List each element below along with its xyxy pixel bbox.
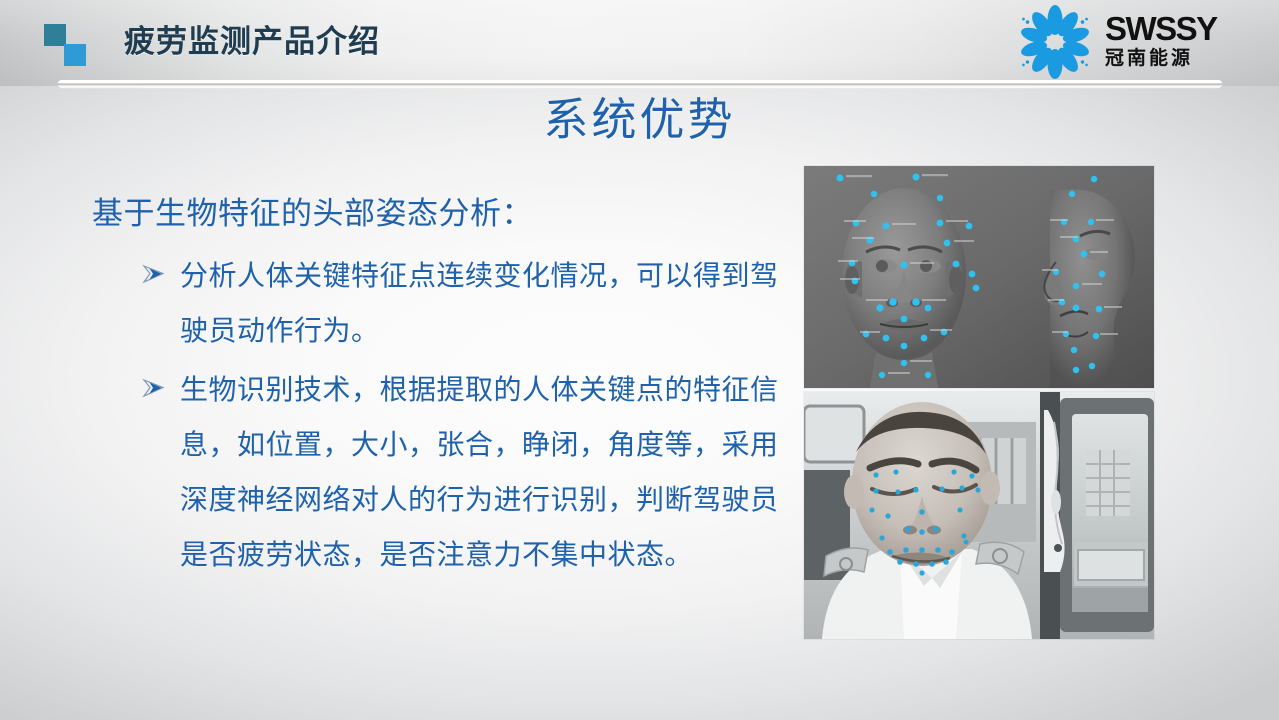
media-column <box>804 166 1154 639</box>
slide-body: 基于生物特征的头部姿态分析： 分析人体关键特征点连续变化情况，可以得到驾驶员动作… <box>92 190 782 582</box>
company-logo: SWSSY 冠南能源 <box>1011 4 1267 80</box>
header-divider-line <box>58 80 1222 87</box>
decorative-square-light <box>64 44 86 66</box>
list-item: 分析人体关键特征点连续变化情况，可以得到驾驶员动作行为。 <box>92 248 782 358</box>
page-title: 系统优势 <box>0 90 1279 150</box>
bullet-arrow-icon <box>92 248 180 284</box>
logo-wordmark: SWSSY <box>1105 13 1217 45</box>
slide-header-title: 疲劳监测产品介绍 <box>124 22 380 62</box>
driver-fatigue-detection-photo <box>804 392 1154 639</box>
decorative-squares <box>44 24 94 70</box>
logo-chinese-name: 冠南能源 <box>1105 47 1217 71</box>
bullet-arrow-icon <box>92 362 180 398</box>
list-item-text: 分析人体关键特征点连续变化情况，可以得到驾驶员动作行为。 <box>180 248 782 358</box>
presentation-slide: 疲劳监测产品介绍 <box>0 0 1279 720</box>
list-item: 生物识别技术，根据提取的人体关键点的特征信息，如位置，大小，张合，睁闭，角度等，… <box>92 362 782 582</box>
lead-statement: 基于生物特征的头部姿态分析： <box>92 190 782 238</box>
decorative-square-dark <box>44 24 66 46</box>
logo-text-block: SWSSY 冠南能源 <box>1105 13 1217 71</box>
swssy-flower-logo-icon <box>1011 5 1099 79</box>
list-item-text: 生物识别技术，根据提取的人体关键点的特征信息，如位置，大小，张合，睁闭，角度等，… <box>180 362 782 582</box>
3d-face-landmark-model-image <box>804 166 1154 388</box>
